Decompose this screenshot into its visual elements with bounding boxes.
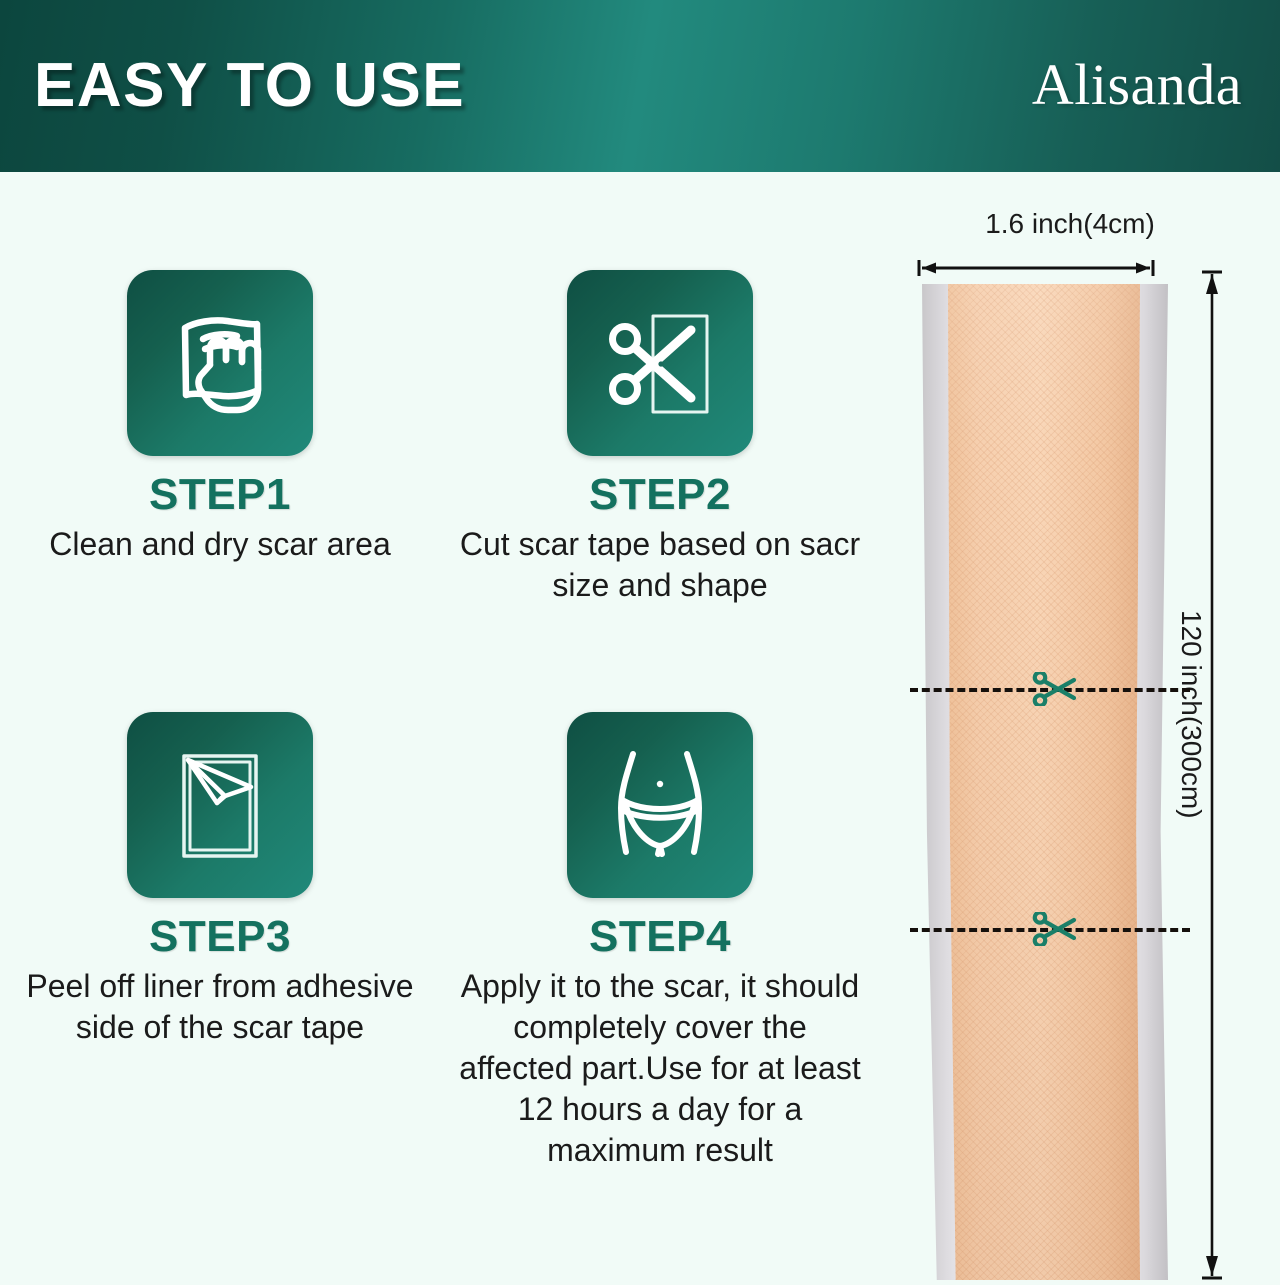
tape-width-dimension-arrow [916,258,1156,278]
step-1-description: Clean and dry scar area [0,524,440,565]
step-2-label: STEP2 [440,472,880,518]
brand-logo: Alisanda [1032,56,1242,114]
scissors-icon [1030,672,1082,711]
step-2-description: Cut scar tape based on sacr size and sha… [440,524,880,606]
step-2-icon-tile [567,270,753,456]
peel-liner-icon [155,740,285,870]
step-card-2: STEP2 Cut scar tape based on sacr size a… [440,270,880,606]
cut-line-1 [20,672,1280,706]
product-illustration: 1.6 inch(4cm) 120 inch(300cm) [880,180,1280,1280]
scissors-icon [1030,912,1082,951]
infographic-page: EASY TO USE Alisanda STE [0,0,1280,1280]
step-1-icon-tile [127,270,313,456]
scissors-cut-rectangle-icon [595,298,725,428]
tape-width-dimension-label: 1.6 inch(4cm) [940,208,1200,240]
step-3-icon-tile [127,712,313,898]
steps-grid: STEP1 Clean and dry scar area STEP2 [0,200,880,1280]
step-card-3: STEP3 Peel off liner from adhesive side … [0,712,440,1048]
cut-line-2 [20,912,1280,946]
header-banner: EASY TO USE Alisanda [0,0,1280,172]
step-4-icon-tile [567,712,753,898]
step-card-1: STEP1 Clean and dry scar area [0,270,440,565]
page-title: EASY TO USE [34,55,465,117]
step-4-description: Apply it to the scar, it should complete… [440,966,880,1171]
step-3-description: Peel off liner from adhesive side of the… [0,966,440,1048]
hand-wipe-cloth-icon [155,298,285,428]
torso-body-icon [595,740,725,870]
scar-tape-roll [910,284,1180,1280]
tape-shading-overlay [948,284,1140,1280]
step-1-label: STEP1 [0,472,440,518]
